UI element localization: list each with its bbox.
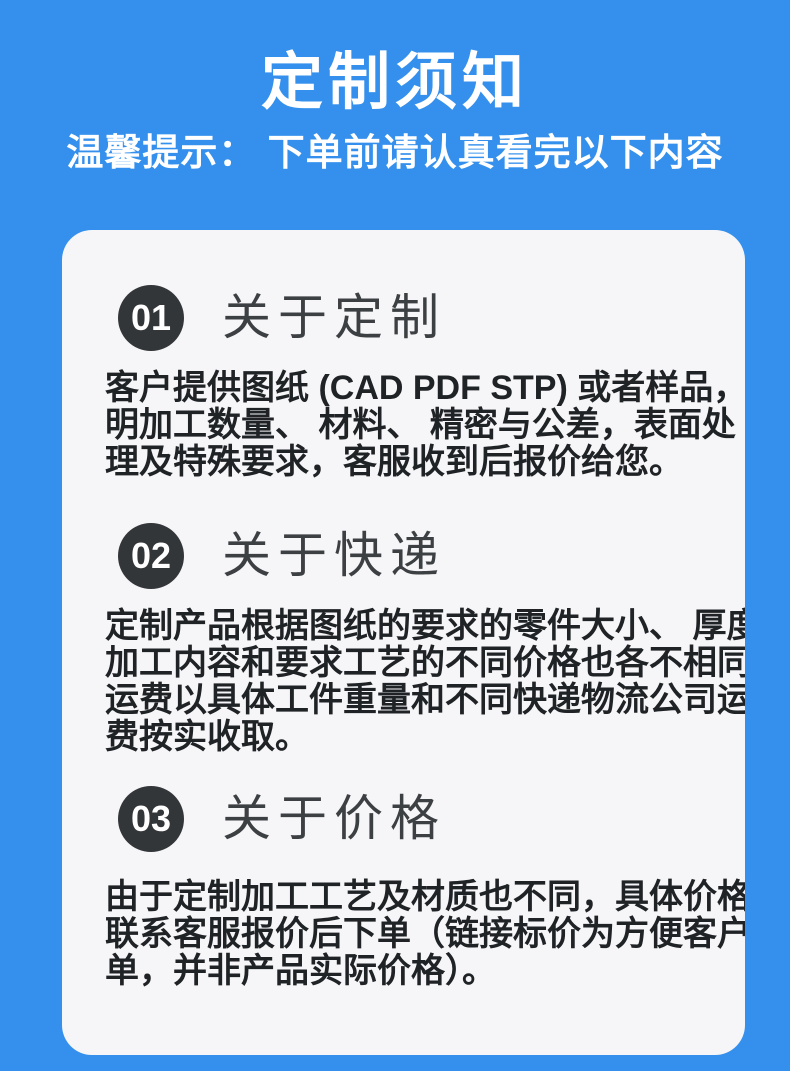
section-header-02: 02 关于快递 — [62, 520, 745, 594]
section-body-03: 由于定制加工工艺及材质也不同，具体价格请 联系客服报价后下单（链接标价为方便客户… — [105, 879, 715, 990]
body-line: 联系客服报价后下单（链接标价为方便客户下 — [105, 916, 715, 953]
notice-section-03: 03 关于价格 由于定制加工工艺及材质也不同，具体价格请 联系客服报价后下单（链… — [62, 783, 745, 857]
section-body-01: 客户提供图纸 (CAD PDF STP) 或者样品，表 明加工数量、 材料、 精… — [105, 370, 715, 481]
customization-notice-page: 定制须知 温馨提示： 下单前请认真看完以下内容 01 关于定制 客户提供图纸 (… — [0, 0, 790, 1071]
section-title-03: 关于价格 — [222, 789, 446, 849]
section-header-03: 03 关于价格 — [62, 783, 745, 857]
body-line: 理及特殊要求，客服收到后报价给您。 — [105, 444, 715, 481]
section-number-badge-02: 02 — [118, 523, 184, 589]
page-header: 定制须知 温馨提示： 下单前请认真看完以下内容 — [0, 0, 790, 230]
section-number-badge-01: 01 — [118, 285, 184, 351]
notice-section-01: 01 关于定制 客户提供图纸 (CAD PDF STP) 或者样品，表 明加工数… — [62, 282, 745, 356]
body-line: 加工内容和要求工艺的不同价格也各不相同， — [105, 645, 715, 682]
body-line: 客户提供图纸 (CAD PDF STP) 或者样品，表 — [105, 370, 715, 407]
body-line: 费按实收取。 — [105, 719, 715, 756]
section-number-badge-03: 03 — [118, 786, 184, 852]
section-title-01: 关于定制 — [222, 288, 446, 348]
body-line: 运费以具体工件重量和不同快递物流公司运 — [105, 682, 715, 719]
section-title-02: 关于快递 — [222, 526, 446, 586]
body-line: 单，并非产品实际价格）。 — [105, 953, 715, 990]
body-line: 定制产品根据图纸的要求的零件大小、 厚度、 — [105, 608, 715, 645]
section-body-02: 定制产品根据图纸的要求的零件大小、 厚度、 加工内容和要求工艺的不同价格也各不相… — [105, 608, 715, 756]
body-line: 明加工数量、 材料、 精密与公差，表面处 — [105, 407, 715, 444]
page-subtitle: 温馨提示： 下单前请认真看完以下内容 — [0, 130, 790, 176]
section-header-01: 01 关于定制 — [62, 282, 745, 356]
page-title: 定制须知 — [0, 48, 790, 118]
notice-card: 01 关于定制 客户提供图纸 (CAD PDF STP) 或者样品，表 明加工数… — [62, 230, 745, 1055]
body-line: 由于定制加工工艺及材质也不同，具体价格请 — [105, 879, 715, 916]
notice-section-02: 02 关于快递 定制产品根据图纸的要求的零件大小、 厚度、 加工内容和要求工艺的… — [62, 520, 745, 594]
